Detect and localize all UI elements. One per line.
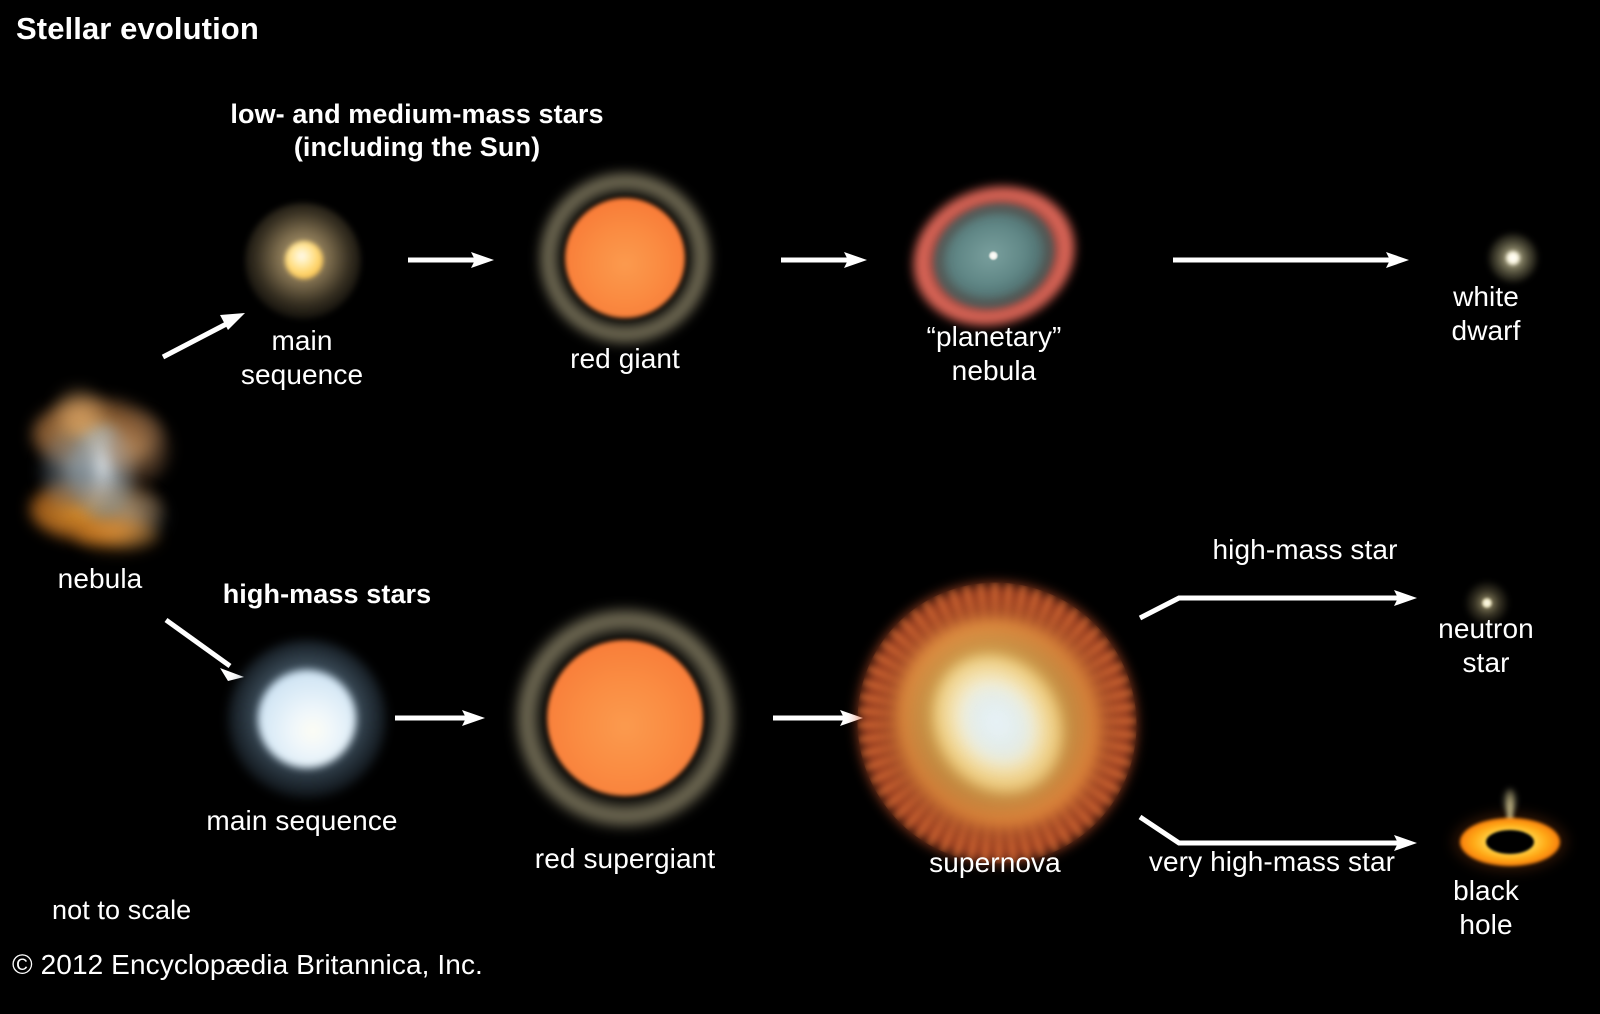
white-dwarf-core — [1506, 251, 1520, 265]
label-red-supergiant: red supergiant — [535, 842, 715, 876]
arrow-planetary-nebula-to-white-dwarf — [1170, 246, 1415, 274]
red-supergiant-core — [547, 640, 703, 796]
label-main-sequence-high: main sequence — [206, 804, 397, 838]
branch-label-very-high-mass-star: very high-mass star — [1149, 845, 1395, 879]
black-hole-jet-plume — [1503, 788, 1517, 814]
main-sequence-high-core — [258, 670, 356, 768]
arrow-main-sequence-to-red-giant — [405, 246, 500, 274]
nebula-wisp-bottom — [76, 520, 160, 552]
nebula-wisp-top — [54, 388, 104, 432]
heading-low-and-medium-mass-stars: low- and medium-mass stars (including th… — [230, 98, 603, 164]
black-hole-illustration — [1452, 790, 1568, 876]
black-hole-event-horizon — [1486, 830, 1534, 854]
page-title: Stellar evolution — [16, 10, 259, 48]
label-neutron-star: neutron star — [1438, 612, 1534, 680]
label-black-hole: black hole — [1453, 874, 1519, 942]
label-white-dwarf: white dwarf — [1452, 280, 1521, 348]
main-sequence-low-core — [285, 241, 323, 279]
label-planetary-nebula: “planetary” nebula — [927, 320, 1062, 388]
supernova-illustration — [852, 578, 1142, 868]
nebula-wisp-right — [108, 414, 170, 484]
copyright-notice: © 2012 Encyclopædia Britannica, Inc. — [12, 948, 483, 982]
branch-label-high-mass-star: high-mass star — [1212, 533, 1397, 567]
red-giant-core — [565, 198, 685, 318]
nebula-illustration — [24, 388, 178, 550]
scale-note: not to scale — [52, 894, 191, 927]
nebula-wisp-left — [40, 432, 96, 508]
arrow-red-giant-to-planetary-nebula — [778, 246, 873, 274]
arrow-branch-high-mass-star — [1135, 585, 1425, 625]
stellar-evolution-diagram: Stellar evolution low- and medium-mass s… — [0, 0, 1600, 1014]
heading-high-mass-stars: high-mass stars — [223, 578, 432, 611]
label-main-sequence-low: main sequence — [241, 324, 363, 392]
arrow-main-sequence-high-to-red-supergiant — [392, 704, 492, 732]
label-nebula: nebula — [58, 562, 143, 596]
neutron-star-core — [1482, 598, 1492, 608]
label-red-giant: red giant — [570, 342, 680, 376]
label-supernova: supernova — [929, 846, 1061, 880]
